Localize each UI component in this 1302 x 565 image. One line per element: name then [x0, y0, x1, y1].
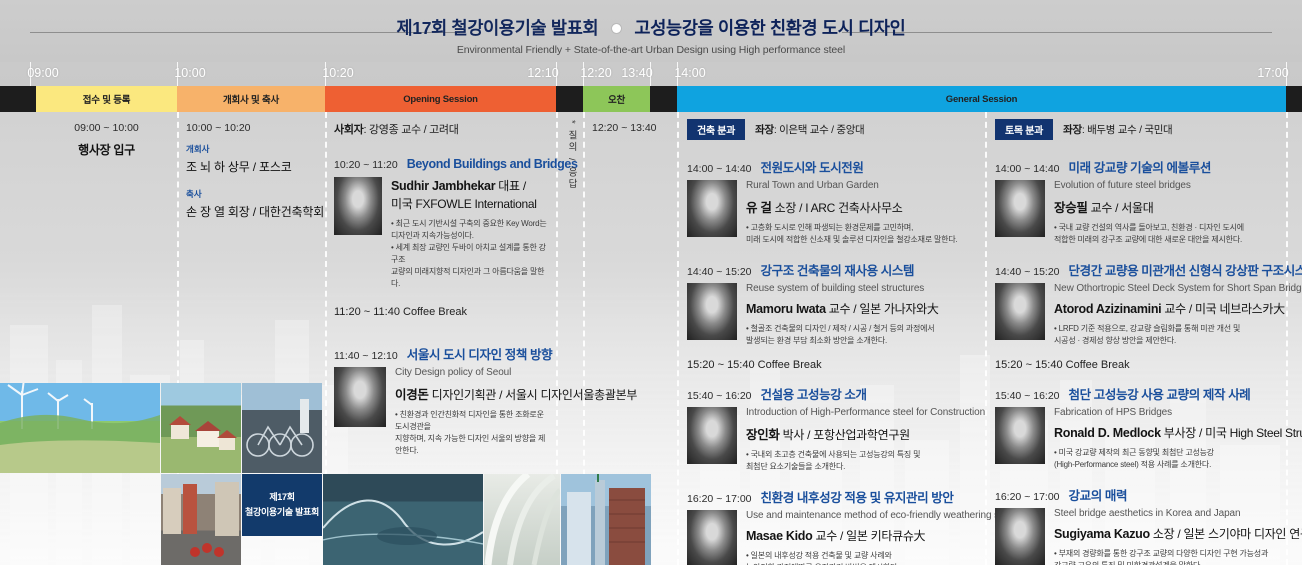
logo-line-1: 제17회	[269, 490, 294, 505]
collage-photo-bicycles	[242, 383, 322, 473]
collage-photo-arches	[484, 474, 560, 565]
logo-line-2: 철강이용기술 발표회	[245, 505, 319, 520]
collage-photo-harbor-bridge	[323, 474, 483, 565]
collage-logo-box: 제17회 철강이용기술 발표회	[242, 474, 322, 536]
poster-root: 제17회 철강이용기술 발표회 고성능강을 이용한 친환경 도시 디자인 Env…	[0, 0, 1302, 565]
collage-photo-street	[161, 474, 241, 565]
collage-photo-windfarm	[0, 383, 160, 473]
collage-photo-village	[161, 383, 241, 473]
collage-photo-skyscrapers	[561, 474, 651, 565]
photo-collage: 제17회 철강이용기술 발표회	[0, 0, 1302, 565]
